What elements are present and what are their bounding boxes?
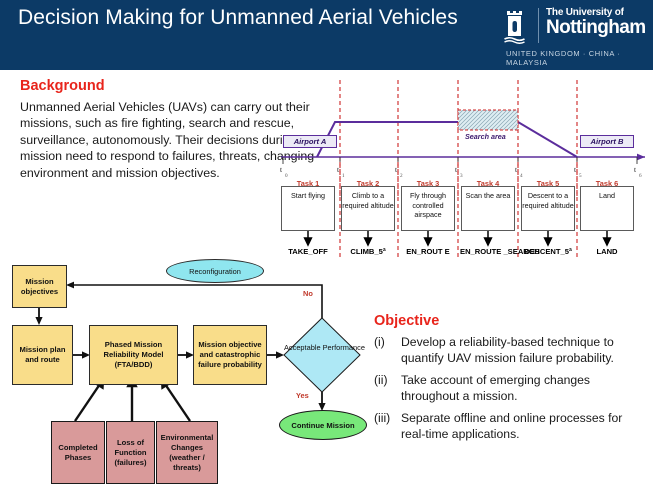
mission-objectives-box: Mission objectives [12, 265, 67, 308]
time-tick-t0: t [280, 165, 282, 174]
acceptable-performance-diamond [284, 318, 360, 392]
loss-of-function-box: Loss of Function (failures) [106, 421, 155, 484]
search-area-label: Search area [465, 132, 506, 141]
objective-heading: Objective [374, 313, 646, 329]
continue-mission-node: Continue Mission [279, 410, 367, 440]
task-output-5: DESCENT_5ª [518, 247, 578, 256]
objective-number: (ii) [374, 373, 401, 404]
slide-header: Decision Making for Unmanned Aerial Vehi… [0, 0, 653, 70]
methodology-flowchart: Reconfiguration Mission objectives Missi… [0, 255, 380, 489]
task-box-6: Land [580, 186, 634, 231]
background-section: Background Unmanned Aerial Vehicles (UAV… [20, 78, 320, 181]
task-box-3: Fly through controlled airspace [401, 186, 455, 231]
time-tick-t2: t [395, 165, 397, 174]
objective-number: (iii) [374, 411, 401, 442]
task-output-3: EN_ROUT E [400, 247, 456, 256]
task-box-5: Descent to a required altitude [521, 186, 575, 231]
time-tick-t4: t [515, 165, 517, 174]
objective-number: (i) [374, 335, 401, 366]
mission-objective-failure-probability-box: Mission objective and catastrophic failu… [193, 325, 267, 385]
objective-item: (i) Develop a reliability-based techniqu… [374, 335, 646, 366]
mission-profile-diagram: Airport A Airport B Search area t 0 t 1 … [277, 80, 653, 258]
airport-b-box: Airport B [580, 135, 634, 148]
branch-label-yes: Yes [296, 391, 309, 400]
objective-item: (ii) Take account of emerging changes th… [374, 373, 646, 404]
mission-plan-route-box: Mission plan and route [12, 325, 73, 385]
university-logo: The University of Nottingham UNITED KING… [500, 6, 648, 64]
task-box-4: Scan the area [461, 186, 515, 231]
logo-divider [538, 8, 539, 43]
time-tick-t5: t [574, 165, 576, 174]
time-tick-sub-6: 6 [639, 173, 642, 179]
acceptable-performance-label: Acceptable Performance [284, 342, 360, 354]
objective-item: (iii) Separate offline and online proces… [374, 411, 646, 442]
task-box-2: Climb to a required altitude [341, 186, 395, 231]
logo-campuses: UNITED KINGDOM · CHINA · MALAYSIA [506, 49, 648, 67]
background-body-text: Unmanned Aerial Vehicles (UAVs) can carr… [20, 99, 320, 181]
background-heading: Background [20, 78, 320, 94]
objective-text: Take account of emerging changes through… [401, 373, 646, 404]
mission-profile-graphics [277, 80, 653, 258]
objective-text: Separate offline and online processes fo… [401, 411, 646, 442]
objective-list: (i) Develop a reliability-based techniqu… [374, 335, 646, 443]
airport-a-box: Airport A [283, 135, 337, 148]
logo-line-2: Nottingham [546, 18, 646, 38]
phased-mission-reliability-model-box: Phased Mission Reliability Model (FTA/BD… [89, 325, 178, 385]
time-tick-t6: t [634, 165, 636, 174]
task-output-4: EN_ROUTE _SEARCH [460, 247, 516, 256]
time-tick-t1: t [337, 165, 339, 174]
branch-label-no: No [303, 289, 313, 298]
page-title: Decision Making for Unmanned Aerial Vehi… [18, 5, 488, 31]
time-tick-t3: t [455, 165, 457, 174]
task-output-6: LAND [577, 247, 637, 256]
castle-crest-icon [504, 8, 530, 44]
environmental-changes-box: Environmental Changes (weather / threats… [156, 421, 218, 484]
objective-text: Develop a reliability-based technique to… [401, 335, 646, 366]
task-box-1: Start flying [281, 186, 335, 231]
objective-section: Objective (i) Develop a reliability-base… [374, 313, 646, 450]
slide-canvas: Decision Making for Unmanned Aerial Vehi… [0, 0, 653, 489]
reconfiguration-node: Reconfiguration [166, 259, 264, 283]
completed-phases-box: Completed Phases [51, 421, 105, 484]
